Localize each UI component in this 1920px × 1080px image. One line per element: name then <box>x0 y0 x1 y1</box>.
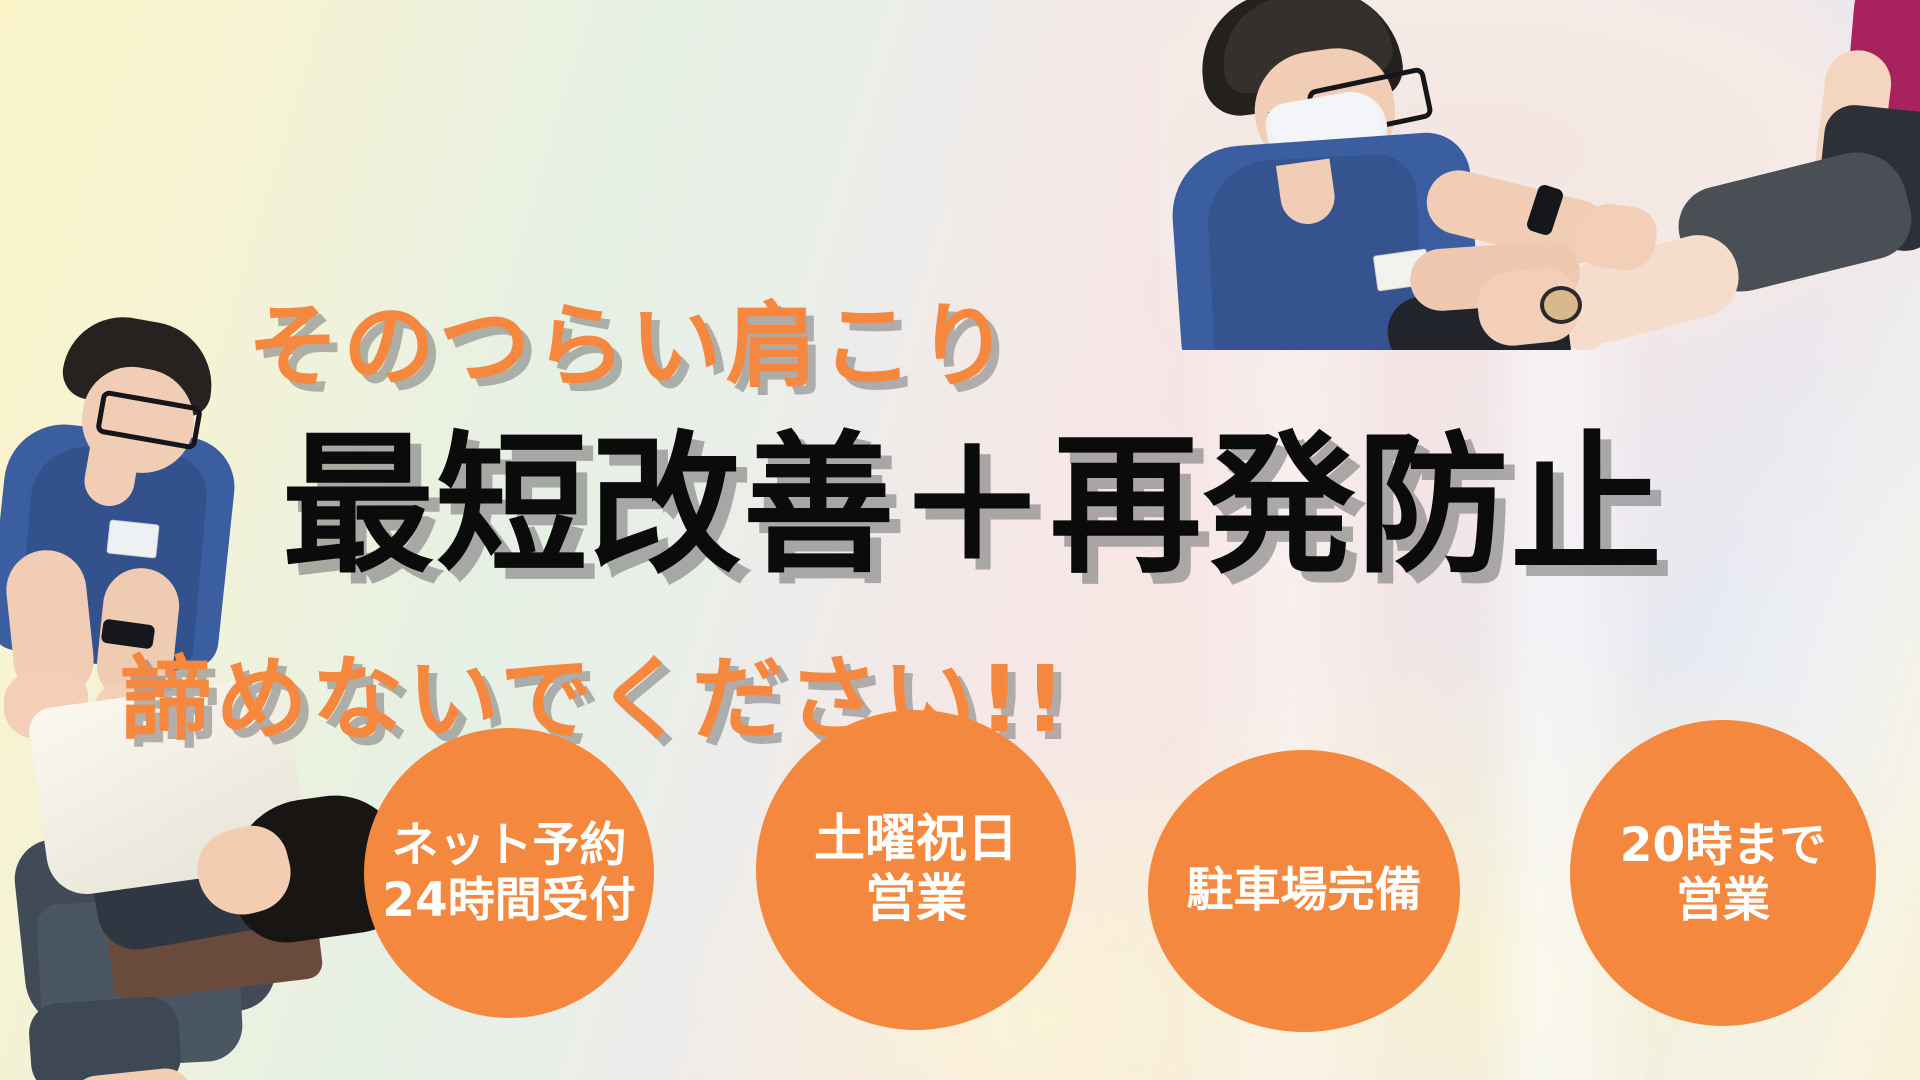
badge-saturday-holiday[interactable]: 土曜祝日 営業 <box>756 710 1076 1030</box>
badge-net-reservation-label: ネット予約 24時間受付 <box>382 818 635 929</box>
main-headline: 最短改善＋再発防止 <box>282 430 1664 582</box>
badge-parking[interactable]: 駐車場完備 <box>1148 750 1460 1032</box>
badge-net-reservation[interactable]: ネット予約 24時間受付 <box>364 728 654 1018</box>
badge-open-until-20-label: 20時まで 営業 <box>1620 818 1826 929</box>
badge-saturday-holiday-label: 土曜祝日 営業 <box>814 810 1018 930</box>
promo-banner: そのつらい肩こり 諦めないでください!! 最短改善＋再発防止 ネット予約 24時… <box>0 0 1920 1080</box>
feature-badge-group: ネット予約 24時間受付 土曜祝日 営業 駐車場完備 20時まで 営業 <box>0 710 1920 1040</box>
treatment-photo <box>1160 0 1920 350</box>
badge-parking-label: 駐車場完備 <box>1187 863 1422 918</box>
badge-open-until-20[interactable]: 20時まで 営業 <box>1570 720 1876 1026</box>
sub-headline-line-1: そのつらい肩こり <box>0 288 1190 406</box>
treatment-tool <box>1544 290 1578 320</box>
